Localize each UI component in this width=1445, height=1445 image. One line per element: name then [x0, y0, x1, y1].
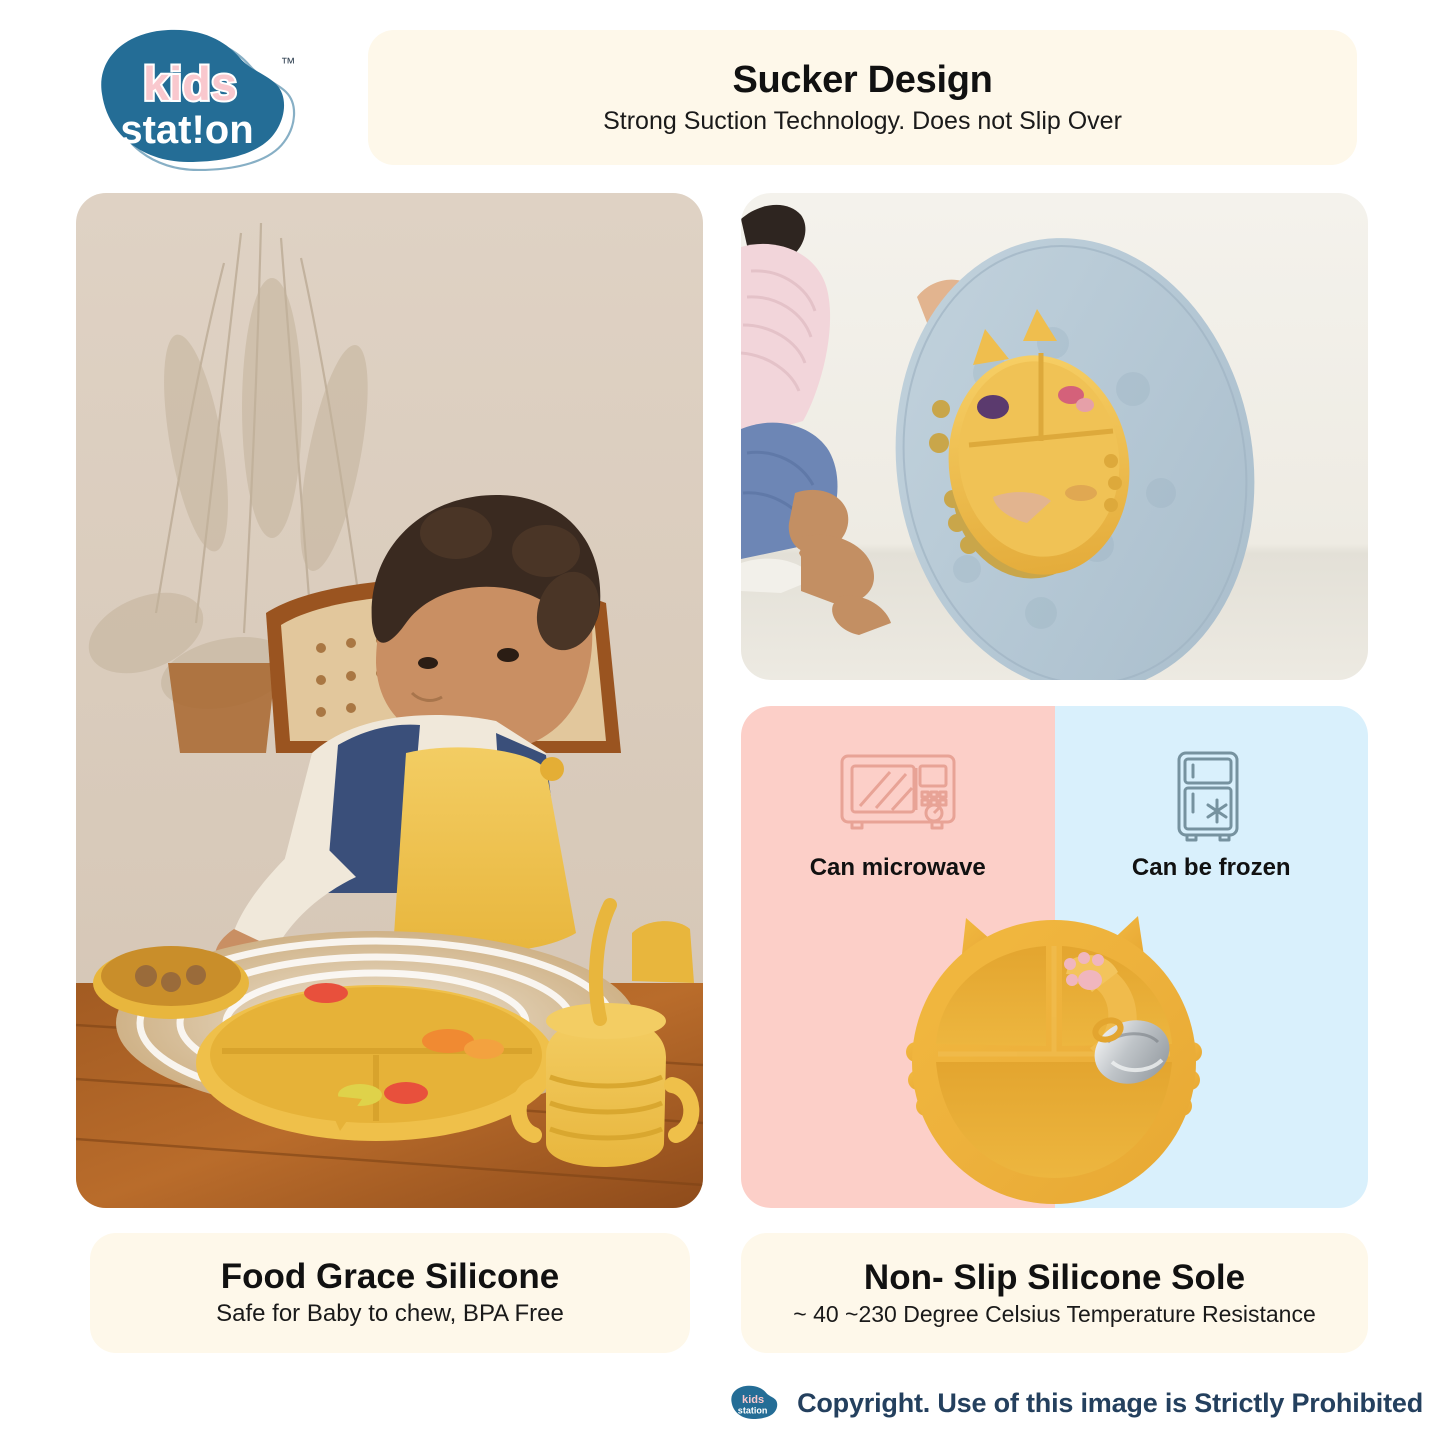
microwave-icon [838, 750, 958, 843]
refrigerator-icon [1171, 750, 1251, 849]
features-panel: Can microwave [741, 706, 1368, 1208]
caption-food-grade: Food Grace Silicone Safe for Baby to che… [90, 1233, 690, 1353]
suction-demo-photo [741, 193, 1368, 680]
svg-text:stat!on: stat!on [120, 108, 253, 152]
page-subtitle: Strong Suction Technology. Does not Slip… [603, 106, 1122, 136]
svg-text:kids: kids [742, 1394, 764, 1406]
caption-right-subtitle: ~ 40 ~230 Degree Celsius Temperature Res… [793, 1301, 1316, 1329]
copyright-text: Copyright. Use of this image is Strictly… [797, 1388, 1423, 1419]
microwave-label: Can microwave [741, 854, 1055, 882]
kids-station-mini-logo-icon: kids station [729, 1384, 783, 1422]
header-banner: Sucker Design Strong Suction Technology.… [368, 30, 1357, 165]
suction-demo-illustration [741, 193, 1368, 680]
caption-right-title: Non- Slip Silicone Sole [864, 1258, 1245, 1297]
cat-plate-illustration [894, 902, 1216, 1208]
infographic-page: kids stat!on ™ Sucker Design Strong Suct… [0, 0, 1445, 1445]
header: kids stat!on ™ Sucker Design Strong Suct… [0, 0, 1445, 185]
kids-station-logo-icon: kids stat!on ™ [92, 26, 307, 171]
caption-non-slip: Non- Slip Silicone Sole ~ 40 ~230 Degree… [741, 1233, 1368, 1353]
footer: kids station Copyright. Use of this imag… [0, 1372, 1445, 1434]
main-lifestyle-photo [76, 193, 703, 1208]
svg-text:station: station [738, 1405, 768, 1415]
page-title: Sucker Design [732, 59, 992, 102]
caption-left-title: Food Grace Silicone [221, 1257, 559, 1296]
baby-eating-illustration [76, 193, 703, 1208]
caption-left-subtitle: Safe for Baby to chew, BPA Free [216, 1300, 564, 1329]
frozen-label: Can be frozen [1055, 854, 1369, 882]
cat-plate-product-image [894, 902, 1216, 1208]
svg-text:™: ™ [281, 55, 296, 72]
svg-text:kids: kids [143, 57, 237, 110]
brand-logo: kids stat!on ™ [92, 26, 307, 171]
